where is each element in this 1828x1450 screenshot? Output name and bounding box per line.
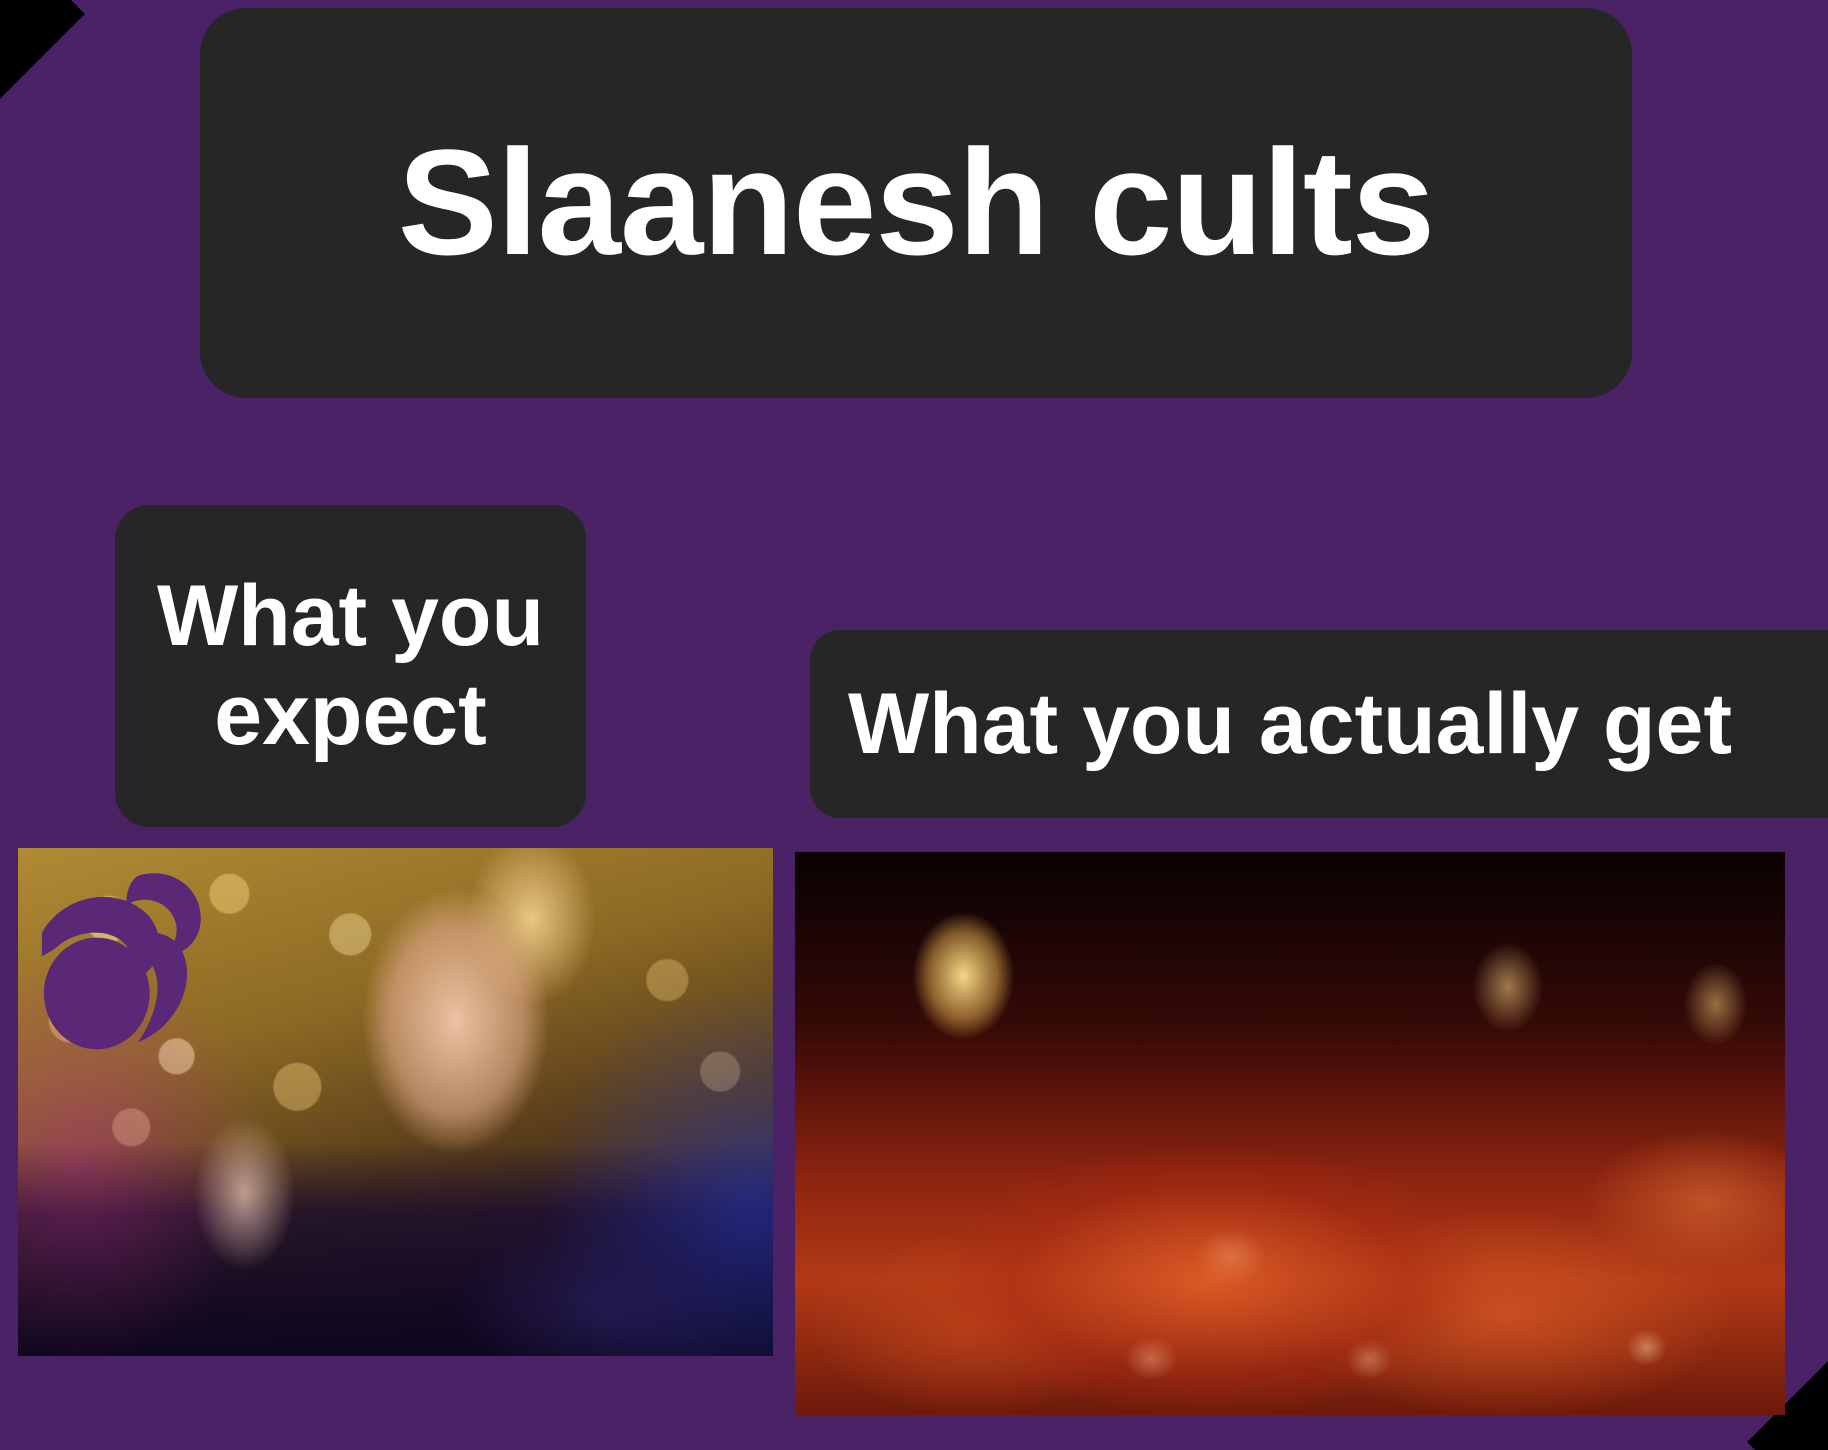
right-panel-label-text: What you actually get [848, 677, 1732, 772]
left-panel-photo [18, 848, 773, 1356]
right-panel-photo [795, 852, 1785, 1415]
meme-title-text: Slaanesh cults [398, 124, 1434, 282]
meme-canvas: Slaanesh cults What you expect What you … [0, 0, 1828, 1450]
page-corner-top-left [0, 0, 85, 99]
right-panel-label-box: What you actually get [810, 630, 1828, 818]
left-panel-label-box: What you expect [115, 505, 586, 827]
meme-title-box: Slaanesh cults [200, 8, 1632, 398]
left-panel-label-text: What you expect [141, 567, 560, 765]
